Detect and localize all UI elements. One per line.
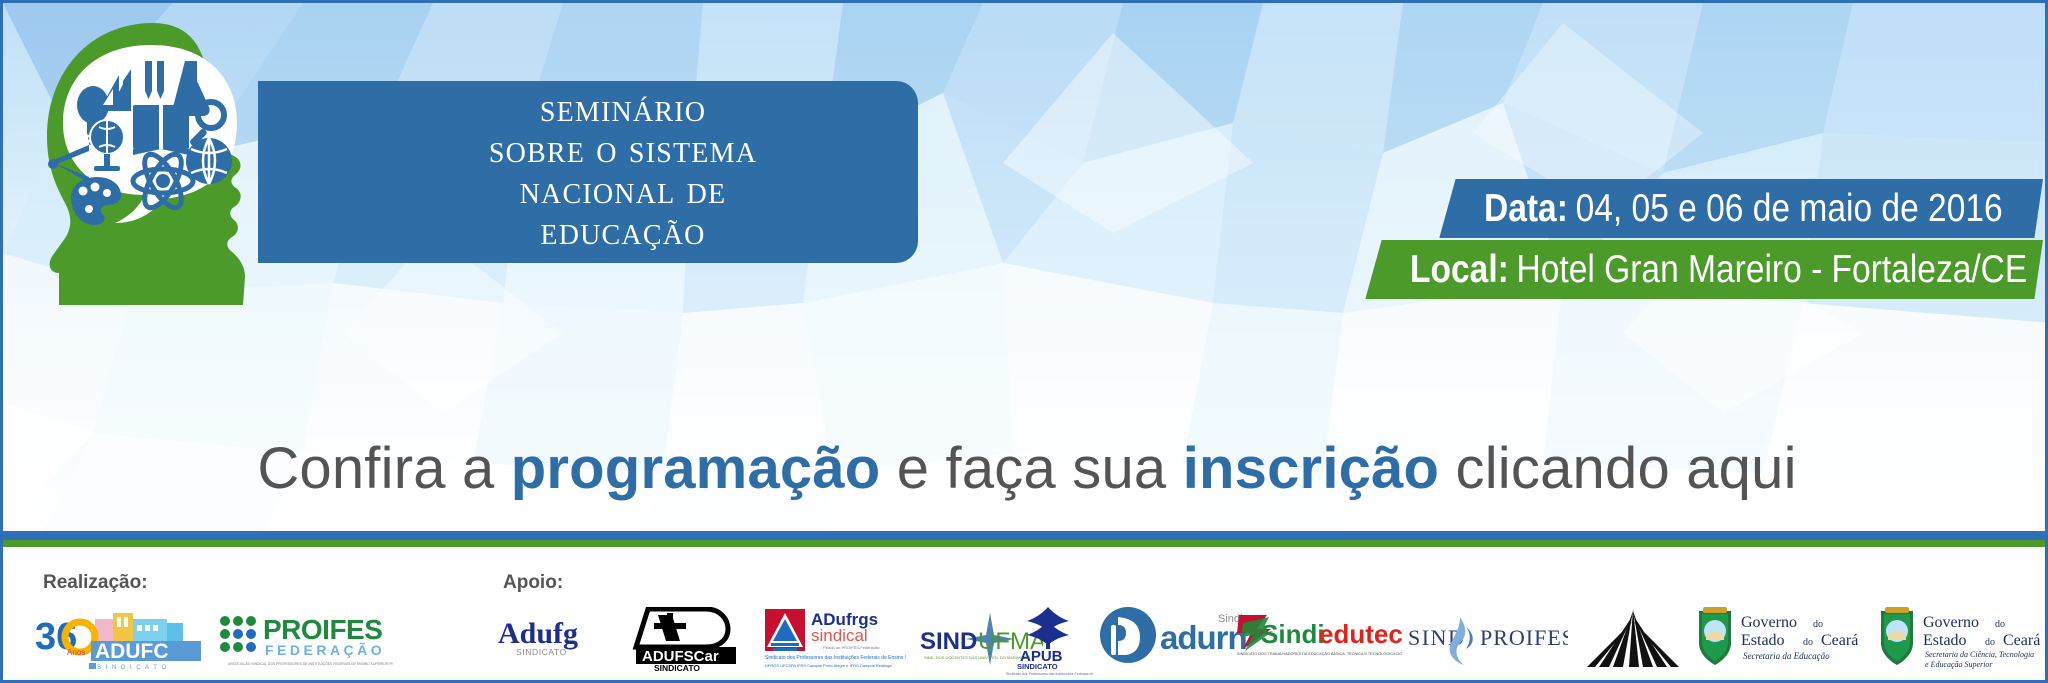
logo-proifes[interactable]: PROIFES FEDERAÇÃO ASSOCIAÇÃO SINDICAL DO… [218,609,393,671]
ceara-cie-line2c: Ceará [2003,632,2040,649]
hero-section: Seminário Sobre o Sistema Nacional de Ed… [3,3,2048,533]
date-label: Data: [1484,187,1568,231]
adufc-acronym: ADUFC [95,640,169,663]
adufscar-sub: SINDICATO [654,663,700,671]
proifes-fine: ASSOCIAÇÃO SINDICAL DOS PROFESSORES DE I… [228,661,393,666]
proifes-sub: FEDERAÇÃO [265,641,385,658]
adufc-buildings [95,613,183,641]
globe-icon [186,138,232,184]
ceara-edu-line1b: do [1813,619,1823,630]
cta-text[interactable]: Confira a programação e faça sua inscriç… [3,435,2048,502]
adufrgs-sub: sindical [811,626,868,645]
logo-governo-ceara-ciencia[interactable]: Governo do Estado do Ceará Secretaria da… [1875,605,2048,675]
sindiedutec-fine: SINDICATO DOS TRABALHADORES DA EDUCAÇÃO … [1237,651,1403,656]
ceara-edu-line2: Estado [1741,632,1785,649]
date-badge: Data: 04, 05 e 06 de maio de 2016 [1439,179,2043,238]
logo-adufscar[interactable]: ADUFSCar SINDICATO [628,607,743,671]
adufrgs-fine2: Sindicato dos Professores das Instituiçõ… [765,655,906,661]
adufrgs-fine: Filiado ao PROIFES-Federação [823,645,880,650]
adufrgs-fine3: UFRGS UFCSPA IFRS Campus Porto Alegre e … [765,663,892,668]
apoio-label: Apoio: [503,572,563,594]
ceara-cie-sub2: e Educação Superior [1925,660,1993,669]
sponsors-footer: Realização: Apoio: 36 Anos [3,547,2048,683]
date-value: 04, 05 e 06 de maio de 2016 [1568,187,2003,231]
ceara-edu-line2c: Ceará [1821,632,1858,649]
logo-governo-ceara-educacao[interactable]: Governo do Estado do Ceará Secretaria da… [1693,605,1873,673]
adufg-sub: SINDICATO [516,647,567,657]
realizacao-label: Realização: [43,572,148,594]
ceara-edu-sub: Secretaria da Educação [1743,651,1830,661]
ceara-cie-line1: Governo [1923,614,1979,631]
logo-sindproifes[interactable]: SIND PROIFES [1408,613,1568,667]
book-icon [133,105,189,155]
proifes-dots [220,616,256,652]
cta-part2: e faça sua [880,436,1182,501]
divider-green-line [3,540,2048,547]
cta-highlight-inscricao[interactable]: inscrição [1183,436,1440,501]
event-title: Seminário Sobre o Sistema Nacional de Ed… [419,88,757,255]
ceara-cie-line2b: do [1985,637,1995,648]
logo-apub[interactable]: APUB SINDICATO Sindicato dos Professores… [1003,603,1093,675]
logo-pyramid[interactable] [1583,607,1683,673]
ceara-coat-of-arms-icon [1699,607,1731,665]
adufc-anos: Anos [67,648,85,657]
ceara-cie-line2: Estado [1923,632,1967,649]
apub-tree-icon [1027,607,1069,649]
ceara-coat-of-arms-icon-2 [1881,607,1913,665]
cta-highlight-programacao[interactable]: programação [511,436,881,501]
ceara-cie-line1b: do [1995,619,2005,630]
apub-fine: Sindicato dos Professores das Instituiçõ… [1006,672,1093,675]
event-title-box: Seminário Sobre o Sistema Nacional de Ed… [258,81,918,263]
logo-adufc[interactable]: 36 Anos ADUFC S I N D I C A T O [33,607,203,673]
ceara-edu-line2b: do [1803,637,1813,648]
logo-sindiedutec[interactable]: Sindi edutec SINDICATO DOS TRABALHADORES… [1233,609,1403,665]
divider-blue-line [3,531,2048,540]
ceara-edu-line1: Governo [1741,614,1797,631]
adufc-sub: S I N D I C A T O [97,665,168,671]
sindufma-acronym: SIND [920,628,977,655]
sindiedutec-acronym: Sindi [1261,619,1325,649]
cta-part3: clicando aqui [1439,436,1796,501]
apub-sub: SINDICATO [1017,662,1058,671]
section-divider [3,531,2048,547]
ceara-cie-sub: Secretaria da Ciência, Tecnologia [1925,650,2034,659]
adufg-acronym: Adufg [498,617,578,650]
local-value: Hotel Gran Mareiro - Fortaleza/CE [1509,248,2027,292]
event-banner: Seminário Sobre o Sistema Nacional de Ed… [0,0,2048,683]
logo-adufg[interactable]: Adufg SINDICATO [498,613,608,669]
logo-adufrgs[interactable]: ADufrgs sindical Filiado ao PROIFES-Fede… [761,605,906,673]
local-label: Local: [1410,248,1509,292]
pyramid-fan-icon [1587,609,1679,667]
sindiedutec-acronym2: edutec [1319,619,1403,649]
sindproifes-acronym2: PROIFES [1480,625,1568,650]
local-badge: Local: Hotel Gran Mareiro - Fortaleza/CE [1365,240,2043,299]
cta-part1: Confira a [257,436,510,501]
proifes-acronym: PROIFES [263,614,382,645]
